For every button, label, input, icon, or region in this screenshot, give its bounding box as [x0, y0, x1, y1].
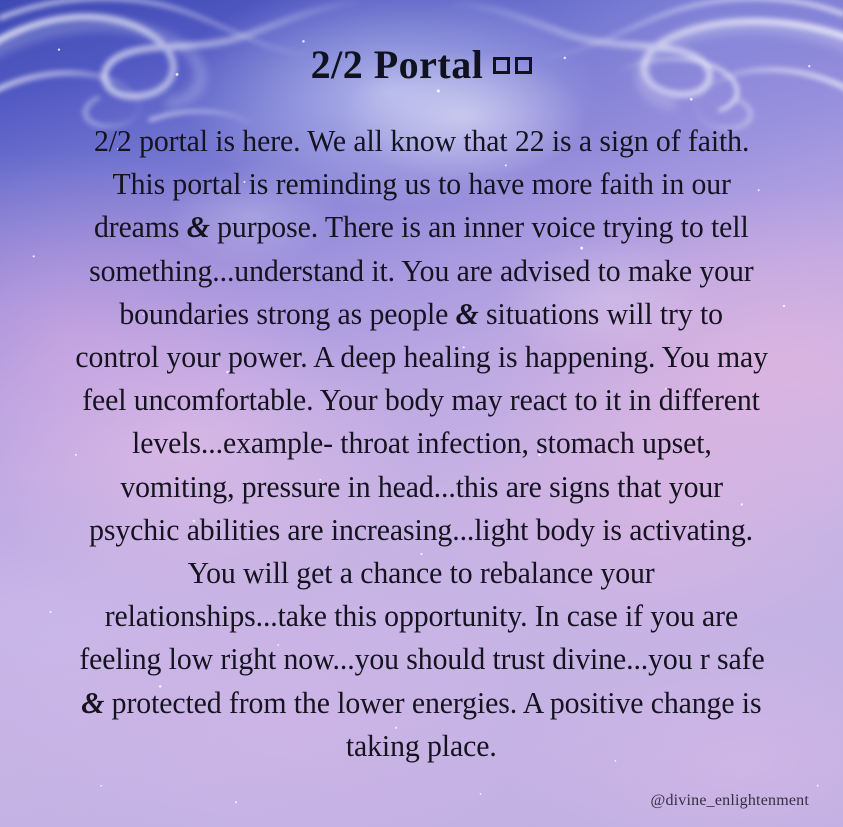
quote-body: 2/2 portal is here. We all know that 22 …	[0, 120, 843, 768]
portal-quote-poster: 2/2 Portal 2/2 portal is here. We all kn…	[0, 0, 843, 827]
quote-line: feeling low right now...you should trust…	[79, 638, 764, 681]
quote-line: control your power. A deep healing is ha…	[75, 336, 768, 379]
watermark-handle: @divine_enlightenment	[651, 792, 809, 810]
page-title-text: 2/2 Portal	[311, 42, 484, 87]
tofu-box-icon	[515, 57, 532, 74]
quote-line: dreams & purpose. There is an inner voic…	[94, 206, 749, 249]
quote-line: vomiting, pressure in head...this are si…	[120, 466, 723, 509]
quote-line: This portal is reminding us to have more…	[112, 163, 730, 206]
tofu-glyph-group	[493, 40, 532, 84]
quote-line: levels...example- throat infection, stom…	[132, 422, 712, 465]
quote-line: boundaries strong as people & situations…	[120, 293, 724, 336]
ampersand-glyph: &	[456, 297, 479, 331]
quote-line: 2/2 portal is here. We all know that 22 …	[94, 120, 749, 163]
page-title: 2/2 Portal	[0, 40, 843, 87]
quote-line: relationships...take this opportunity. I…	[105, 595, 738, 638]
quote-line: You will get a chance to rebalance your	[188, 552, 655, 595]
quote-line: psychic abilities are increasing...light…	[90, 509, 754, 552]
quote-line: feel uncomfortable. Your body may react …	[83, 379, 761, 422]
tofu-box-icon	[493, 57, 510, 74]
quote-line: taking place.	[346, 725, 497, 768]
ampersand-glyph: &	[81, 686, 104, 720]
ampersand-glyph: &	[187, 210, 210, 244]
quote-line: something...understand it. You are advis…	[89, 250, 754, 293]
quote-line: & protected from the lower energies. A p…	[81, 682, 761, 725]
poster-content: 2/2 Portal 2/2 portal is here. We all kn…	[0, 0, 843, 827]
